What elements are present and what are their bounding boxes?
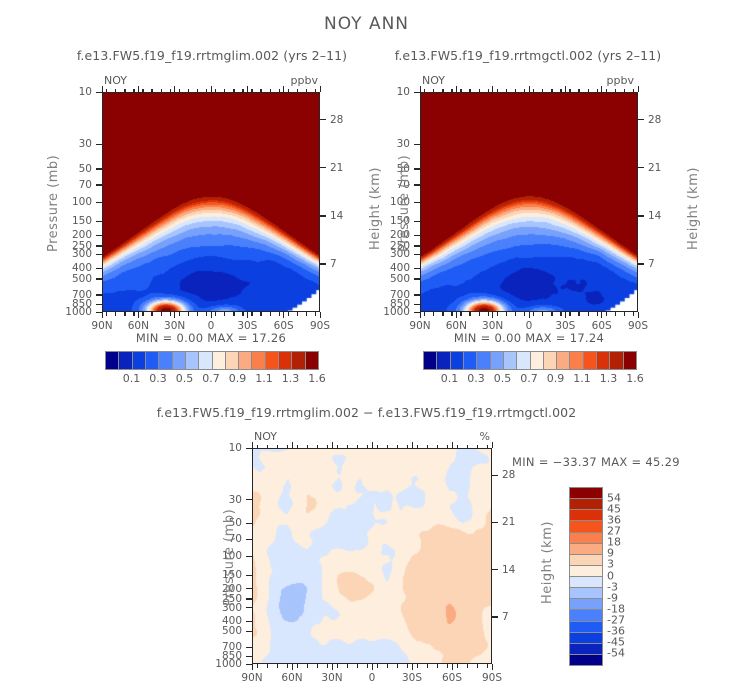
height-tick bbox=[638, 167, 644, 168]
latitude-top-minor-tick bbox=[457, 445, 458, 449]
latitude-top-minor-tick bbox=[469, 89, 470, 93]
latitude-top-minor-tick bbox=[524, 89, 525, 93]
latitude-minor-tick bbox=[417, 664, 418, 668]
latitude-top-minor-tick bbox=[578, 89, 579, 93]
pressure-tick-label: 30 bbox=[54, 138, 92, 150]
colorbar-tick-label: 0.1 bbox=[441, 372, 459, 385]
colorbar-swatch bbox=[543, 352, 556, 369]
colorbar-tick-label: 1.3 bbox=[600, 372, 618, 385]
latitude-tick-label: 60S bbox=[432, 672, 472, 684]
pressure-tick-label: 30 bbox=[372, 138, 410, 150]
colorbar-swatch bbox=[570, 621, 602, 632]
latitude-minor-tick bbox=[297, 312, 298, 316]
colorbar-swatch bbox=[570, 498, 602, 509]
latitude-top-minor-tick bbox=[497, 89, 498, 93]
left-panel-stats: MIN = 0.00 MAX = 17.26 bbox=[102, 331, 320, 345]
right-panel-units-label: ppbv bbox=[318, 74, 634, 87]
latitude-top-minor-tick bbox=[142, 89, 143, 93]
latitude-minor-tick bbox=[307, 664, 308, 668]
colorbar-swatch bbox=[158, 352, 171, 369]
latitude-minor-tick bbox=[297, 664, 298, 668]
colorbar-swatch bbox=[570, 632, 602, 643]
latitude-tick bbox=[247, 312, 248, 318]
latitude-minor-tick bbox=[442, 312, 443, 316]
colorbar-tick-label: 1.6 bbox=[626, 372, 644, 385]
pressure-tick bbox=[246, 631, 252, 632]
diff-panel-units-label: % bbox=[300, 430, 490, 443]
colorbar-swatch bbox=[305, 352, 318, 369]
latitude-top-minor-tick bbox=[197, 89, 198, 93]
latitude-top-minor-tick bbox=[515, 89, 516, 93]
latitude-minor-tick bbox=[133, 312, 134, 316]
height-tick bbox=[320, 167, 326, 168]
height-tick-label: 7 bbox=[648, 258, 655, 270]
colorbar-swatch bbox=[225, 352, 238, 369]
colorbar-swatch bbox=[570, 576, 602, 587]
pressure-tick bbox=[414, 144, 420, 145]
latitude-minor-tick bbox=[233, 312, 234, 316]
latitude-minor-tick bbox=[288, 312, 289, 316]
latitude-top-minor-tick bbox=[624, 89, 625, 93]
colorbar-swatch bbox=[569, 352, 582, 369]
latitude-minor-tick bbox=[206, 312, 207, 316]
latitude-top-minor-tick bbox=[288, 89, 289, 93]
pressure-tick bbox=[96, 245, 102, 246]
colorbar-swatch bbox=[251, 352, 264, 369]
colorbar-swatch bbox=[570, 598, 602, 609]
pressure-tick bbox=[96, 202, 102, 203]
latitude-minor-tick bbox=[277, 664, 278, 668]
height-tick-label: 21 bbox=[648, 162, 661, 174]
latitude-tick bbox=[138, 312, 139, 318]
latitude-minor-tick bbox=[457, 664, 458, 668]
colorbar-tick-label: 1.3 bbox=[282, 372, 300, 385]
height-tick-label: 7 bbox=[502, 611, 509, 623]
latitude-minor-tick bbox=[437, 664, 438, 668]
pressure-tick bbox=[246, 588, 252, 589]
right-plot-canvas bbox=[421, 93, 638, 312]
latitude-top-minor-tick bbox=[170, 89, 171, 93]
pressure-tick bbox=[414, 202, 420, 203]
latitude-minor-tick bbox=[337, 664, 338, 668]
latitude-tick-label: 0 bbox=[352, 672, 392, 684]
pressure-tick bbox=[414, 304, 420, 305]
latitude-minor-tick bbox=[447, 664, 448, 668]
latitude-minor-tick bbox=[606, 312, 607, 316]
height-tick-label: 28 bbox=[330, 114, 343, 126]
latitude-tick bbox=[252, 664, 253, 670]
pressure-tick bbox=[246, 598, 252, 599]
pressure-tick-label: 1000 bbox=[54, 306, 92, 318]
latitude-minor-tick bbox=[397, 664, 398, 668]
latitude-top-minor-tick bbox=[337, 445, 338, 449]
right-plot-area bbox=[420, 92, 638, 312]
latitude-minor-tick bbox=[251, 312, 252, 316]
latitude-top-tick bbox=[456, 86, 457, 92]
latitude-minor-tick bbox=[279, 312, 280, 316]
colorbar-tick-label: 0.3 bbox=[149, 372, 167, 385]
pressure-tick-label: 1000 bbox=[372, 306, 410, 318]
colorbar-tick-label: 0.9 bbox=[229, 372, 247, 385]
latitude-tick bbox=[211, 312, 212, 318]
pressure-tick bbox=[96, 221, 102, 222]
latitude-top-minor-tick bbox=[633, 89, 634, 93]
latitude-minor-tick bbox=[479, 312, 480, 316]
diff-colorbar bbox=[569, 487, 603, 666]
latitude-top-minor-tick bbox=[106, 89, 107, 93]
pressure-tick-label: 500 bbox=[54, 273, 92, 285]
latitude-top-minor-tick bbox=[377, 445, 378, 449]
height-tick bbox=[492, 616, 498, 617]
latitude-tick bbox=[292, 664, 293, 670]
latitude-tick bbox=[372, 664, 373, 670]
latitude-top-tick bbox=[565, 86, 566, 92]
latitude-minor-tick bbox=[170, 312, 171, 316]
left-colorbar-labels: 0.10.30.50.70.91.11.31.6 bbox=[105, 372, 317, 386]
colorbar-swatch bbox=[570, 587, 602, 598]
height-tick-label: 21 bbox=[330, 162, 343, 174]
latitude-minor-tick bbox=[124, 312, 125, 316]
height-tick bbox=[492, 475, 498, 476]
pressure-tick bbox=[246, 556, 252, 557]
pressure-tick-label: 500 bbox=[372, 273, 410, 285]
colorbar-swatch bbox=[145, 352, 158, 369]
latitude-top-tick bbox=[283, 86, 284, 92]
latitude-top-tick bbox=[174, 86, 175, 92]
latitude-minor-tick bbox=[488, 312, 489, 316]
latitude-top-tick bbox=[452, 442, 453, 448]
latitude-top-minor-tick bbox=[347, 445, 348, 449]
latitude-top-tick bbox=[529, 86, 530, 92]
latitude-minor-tick bbox=[506, 312, 507, 316]
left-pressure-axis-title: Pressure (mb) bbox=[46, 155, 61, 252]
left-panel-units-label: ppbv bbox=[0, 74, 318, 87]
colorbar-swatch bbox=[185, 352, 198, 369]
latitude-top-minor-tick bbox=[460, 89, 461, 93]
height-tick-label: 7 bbox=[330, 258, 337, 270]
pressure-tick bbox=[96, 168, 102, 169]
latitude-tick bbox=[492, 664, 493, 670]
height-tick bbox=[492, 569, 498, 570]
latitude-minor-tick bbox=[497, 312, 498, 316]
latitude-top-minor-tick bbox=[397, 445, 398, 449]
height-tick-label: 21 bbox=[502, 516, 515, 528]
colorbar-swatch bbox=[556, 352, 569, 369]
colorbar-swatch bbox=[570, 543, 602, 554]
latitude-top-minor-tick bbox=[161, 89, 162, 93]
pressure-tick bbox=[414, 245, 420, 246]
latitude-top-minor-tick bbox=[297, 89, 298, 93]
latitude-minor-tick bbox=[377, 664, 378, 668]
pressure-tick bbox=[246, 621, 252, 622]
colorbar-swatch bbox=[583, 352, 596, 369]
latitude-top-minor-tick bbox=[287, 445, 288, 449]
latitude-tick bbox=[174, 312, 175, 318]
colorbar-swatch bbox=[265, 352, 278, 369]
pressure-tick bbox=[96, 278, 102, 279]
height-tick bbox=[320, 215, 326, 216]
latitude-minor-tick bbox=[270, 312, 271, 316]
pressure-tick-label: 10 bbox=[54, 86, 92, 98]
colorbar-tick-label: 1.1 bbox=[573, 372, 591, 385]
latitude-top-minor-tick bbox=[357, 445, 358, 449]
latitude-minor-tick bbox=[578, 312, 579, 316]
latitude-top-minor-tick bbox=[367, 445, 368, 449]
left-colorbar bbox=[105, 351, 319, 370]
latitude-top-minor-tick bbox=[133, 89, 134, 93]
latitude-tick bbox=[283, 312, 284, 318]
pressure-tick-label: 10 bbox=[204, 442, 242, 454]
colorbar-swatch bbox=[570, 488, 602, 498]
latitude-minor-tick bbox=[224, 312, 225, 316]
pressure-tick bbox=[96, 235, 102, 236]
colorbar-swatch bbox=[596, 352, 609, 369]
latitude-minor-tick bbox=[467, 664, 468, 668]
latitude-top-tick bbox=[332, 442, 333, 448]
latitude-top-minor-tick bbox=[447, 445, 448, 449]
height-tick bbox=[638, 215, 644, 216]
latitude-top-tick bbox=[412, 442, 413, 448]
colorbar-swatch bbox=[570, 609, 602, 620]
latitude-top-minor-tick bbox=[257, 445, 258, 449]
colorbar-swatch bbox=[623, 352, 636, 369]
right-colorbar-labels: 0.10.30.50.70.91.11.31.6 bbox=[423, 372, 635, 386]
colorbar-swatch bbox=[436, 352, 449, 369]
latitude-tick bbox=[332, 664, 333, 670]
latitude-top-minor-tick bbox=[467, 445, 468, 449]
latitude-minor-tick bbox=[560, 312, 561, 316]
diff-colorbar-labels: 5445362718930-3-9-18-27-36-45-54 bbox=[607, 487, 667, 664]
colorbar-tick-label: 0.3 bbox=[467, 372, 485, 385]
colorbar-swatch bbox=[424, 352, 436, 369]
latitude-tick-label: 30N bbox=[312, 672, 352, 684]
latitude-minor-tick bbox=[624, 312, 625, 316]
height-tick-label: 28 bbox=[502, 469, 515, 481]
pressure-tick bbox=[246, 607, 252, 608]
latitude-top-minor-tick bbox=[417, 445, 418, 449]
latitude-top-minor-tick bbox=[407, 445, 408, 449]
latitude-minor-tick bbox=[357, 664, 358, 668]
latitude-minor-tick bbox=[367, 664, 368, 668]
latitude-minor-tick bbox=[424, 312, 425, 316]
pressure-tick bbox=[414, 254, 420, 255]
latitude-top-tick bbox=[252, 442, 253, 448]
pressure-tick bbox=[246, 656, 252, 657]
latitude-top-minor-tick bbox=[306, 89, 307, 93]
latitude-top-minor-tick bbox=[427, 445, 428, 449]
latitude-minor-tick bbox=[469, 312, 470, 316]
diff-height-axis-title: Height (km) bbox=[540, 521, 555, 604]
latitude-top-tick bbox=[492, 86, 493, 92]
latitude-top-minor-tick bbox=[233, 89, 234, 93]
latitude-minor-tick bbox=[215, 312, 216, 316]
latitude-minor-tick bbox=[327, 664, 328, 668]
latitude-minor-tick bbox=[477, 664, 478, 668]
latitude-top-minor-tick bbox=[506, 89, 507, 93]
latitude-minor-tick bbox=[569, 312, 570, 316]
latitude-minor-tick bbox=[260, 312, 261, 316]
height-tick-label: 14 bbox=[330, 210, 343, 222]
latitude-top-minor-tick bbox=[479, 89, 480, 93]
height-tick bbox=[492, 522, 498, 523]
latitude-top-minor-tick bbox=[124, 89, 125, 93]
colorbar-swatch bbox=[291, 352, 304, 369]
pressure-tick bbox=[414, 235, 420, 236]
latitude-minor-tick bbox=[524, 312, 525, 316]
latitude-top-minor-tick bbox=[551, 89, 552, 93]
latitude-minor-tick bbox=[242, 312, 243, 316]
latitude-top-tick bbox=[211, 86, 212, 92]
latitude-tick bbox=[452, 664, 453, 670]
latitude-top-minor-tick bbox=[315, 89, 316, 93]
figure-main-title: NOY ANN bbox=[0, 14, 733, 34]
latitude-top-minor-tick bbox=[597, 89, 598, 93]
latitude-minor-tick bbox=[407, 664, 408, 668]
latitude-top-tick bbox=[102, 86, 103, 92]
latitude-tick-label: 60N bbox=[272, 672, 312, 684]
pressure-tick bbox=[414, 268, 420, 269]
pressure-tick-label: 500 bbox=[204, 625, 242, 637]
latitude-tick bbox=[456, 312, 457, 318]
right-height-axis-title: Height (km) bbox=[686, 167, 701, 250]
latitude-top-minor-tick bbox=[260, 89, 261, 93]
pressure-tick bbox=[414, 184, 420, 185]
colorbar-swatch bbox=[118, 352, 131, 369]
colorbar-tick-label: 0.7 bbox=[520, 372, 538, 385]
left-panel-title: f.e13.FW5.f19_f19.rrtmglim.002 (yrs 2–11… bbox=[36, 48, 388, 63]
latitude-minor-tick bbox=[106, 312, 107, 316]
colorbar-swatch bbox=[278, 352, 291, 369]
latitude-minor-tick bbox=[161, 312, 162, 316]
latitude-top-minor-tick bbox=[297, 445, 298, 449]
left-plot-canvas bbox=[103, 93, 320, 312]
latitude-minor-tick bbox=[387, 664, 388, 668]
latitude-minor-tick bbox=[188, 312, 189, 316]
height-tick-label: 14 bbox=[502, 564, 515, 576]
colorbar-swatch bbox=[570, 554, 602, 565]
pressure-tick bbox=[246, 575, 252, 576]
latitude-tick bbox=[320, 312, 321, 318]
latitude-top-tick bbox=[292, 442, 293, 448]
colorbar-swatch bbox=[609, 352, 622, 369]
colorbar-swatch bbox=[212, 352, 225, 369]
colorbar-swatch bbox=[463, 352, 476, 369]
latitude-top-minor-tick bbox=[242, 89, 243, 93]
latitude-minor-tick bbox=[460, 312, 461, 316]
colorbar-swatch bbox=[238, 352, 251, 369]
latitude-top-minor-tick bbox=[569, 89, 570, 93]
latitude-top-minor-tick bbox=[327, 445, 328, 449]
latitude-minor-tick bbox=[287, 664, 288, 668]
colorbar-swatch bbox=[132, 352, 145, 369]
latitude-minor-tick bbox=[533, 312, 534, 316]
colorbar-swatch bbox=[450, 352, 463, 369]
latitude-top-minor-tick bbox=[179, 89, 180, 93]
latitude-tick bbox=[601, 312, 602, 318]
colorbar-tick-label: -54 bbox=[607, 646, 625, 659]
colorbar-swatch bbox=[570, 654, 602, 665]
latitude-tick bbox=[529, 312, 530, 318]
right-pressure-axis-title: Pressure (mb) bbox=[397, 155, 412, 252]
pressure-tick bbox=[246, 499, 252, 500]
right-panel-title: f.e13.FW5.f19_f19.rrtmgctl.002 (yrs 2–11… bbox=[352, 48, 704, 63]
height-tick-label: 28 bbox=[648, 114, 661, 126]
latitude-minor-tick bbox=[542, 312, 543, 316]
latitude-top-minor-tick bbox=[488, 89, 489, 93]
latitude-minor-tick bbox=[315, 312, 316, 316]
latitude-tick bbox=[420, 312, 421, 318]
latitude-minor-tick bbox=[151, 312, 152, 316]
latitude-minor-tick bbox=[179, 312, 180, 316]
pressure-tick bbox=[414, 221, 420, 222]
latitude-minor-tick bbox=[487, 664, 488, 668]
height-tick-label: 14 bbox=[648, 210, 661, 222]
latitude-top-minor-tick bbox=[533, 89, 534, 93]
latitude-top-minor-tick bbox=[307, 445, 308, 449]
pressure-tick bbox=[246, 647, 252, 648]
latitude-minor-tick bbox=[597, 312, 598, 316]
latitude-minor-tick bbox=[197, 312, 198, 316]
latitude-top-minor-tick bbox=[560, 89, 561, 93]
colorbar-swatch bbox=[516, 352, 529, 369]
latitude-tick bbox=[102, 312, 103, 318]
latitude-minor-tick bbox=[427, 664, 428, 668]
latitude-tick bbox=[412, 664, 413, 670]
height-tick bbox=[638, 263, 644, 264]
colorbar-tick-label: 0.9 bbox=[547, 372, 565, 385]
pressure-tick bbox=[96, 268, 102, 269]
latitude-top-minor-tick bbox=[188, 89, 189, 93]
latitude-top-minor-tick bbox=[267, 445, 268, 449]
pressure-tick bbox=[96, 294, 102, 295]
latitude-minor-tick bbox=[317, 664, 318, 668]
latitude-top-tick bbox=[492, 442, 493, 448]
latitude-tick-label: 90N bbox=[232, 672, 272, 684]
latitude-top-minor-tick bbox=[277, 445, 278, 449]
height-tick bbox=[320, 119, 326, 120]
right-panel-stats: MIN = 0.00 MAX = 17.24 bbox=[420, 331, 638, 345]
latitude-tick bbox=[492, 312, 493, 318]
colorbar-swatch bbox=[476, 352, 489, 369]
pressure-tick bbox=[246, 539, 252, 540]
colorbar-swatch bbox=[570, 509, 602, 520]
colorbar-swatch bbox=[172, 352, 185, 369]
height-tick bbox=[638, 119, 644, 120]
latitude-top-minor-tick bbox=[387, 445, 388, 449]
colorbar-swatch bbox=[570, 643, 602, 654]
latitude-top-minor-tick bbox=[542, 89, 543, 93]
pressure-tick bbox=[414, 294, 420, 295]
latitude-top-minor-tick bbox=[433, 89, 434, 93]
colorbar-swatch bbox=[570, 565, 602, 576]
latitude-minor-tick bbox=[633, 312, 634, 316]
latitude-top-minor-tick bbox=[224, 89, 225, 93]
latitude-minor-tick bbox=[142, 312, 143, 316]
colorbar-tick-label: 0.1 bbox=[123, 372, 141, 385]
latitude-minor-tick bbox=[257, 664, 258, 668]
latitude-top-minor-tick bbox=[477, 445, 478, 449]
colorbar-tick-label: 1.1 bbox=[255, 372, 273, 385]
latitude-tick bbox=[638, 312, 639, 318]
latitude-top-minor-tick bbox=[251, 89, 252, 93]
latitude-top-minor-tick bbox=[206, 89, 207, 93]
colorbar-swatch bbox=[490, 352, 503, 369]
diff-panel-var-label: NOY bbox=[254, 430, 277, 443]
latitude-top-tick bbox=[420, 86, 421, 92]
pressure-tick bbox=[246, 523, 252, 524]
latitude-top-tick bbox=[372, 442, 373, 448]
latitude-top-minor-tick bbox=[215, 89, 216, 93]
